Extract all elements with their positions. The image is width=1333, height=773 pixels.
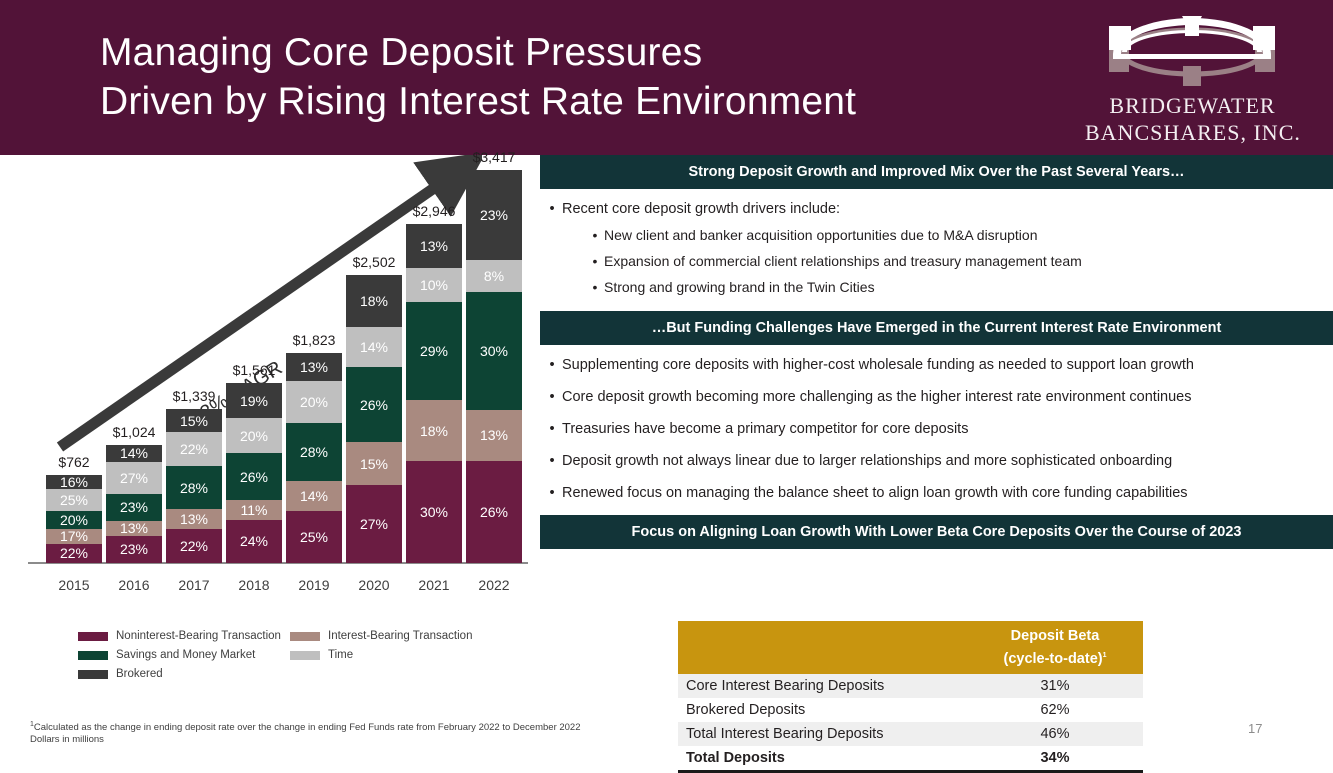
- bar-segment-2016-noninterest-bearing-transaction: 23%: [106, 536, 162, 563]
- legend-row: Brokered: [78, 668, 538, 680]
- segment-value-label: 14%: [300, 488, 328, 504]
- bar-segment-2020-noninterest-bearing-transaction: 27%: [346, 485, 402, 563]
- segment-value-label: 20%: [300, 394, 328, 410]
- bullet: • Treasuries have become a primary compe…: [542, 419, 1331, 439]
- bar-segment-2022-time: 8%: [466, 260, 522, 291]
- bar-2019: 13%20%28%14%25%: [286, 353, 342, 563]
- bar-segment-2021-noninterest-bearing-transaction: 30%: [406, 461, 462, 563]
- legend-item-savings-and-money-market: Savings and Money Market: [78, 649, 290, 661]
- bullet-dot-icon: •: [542, 355, 562, 375]
- bar-segment-2015-savings-and-money-market: 20%: [46, 511, 102, 529]
- table-row-total: Total Deposits 34%: [678, 746, 1143, 772]
- bullet-text: New client and banker acquisition opport…: [604, 225, 1037, 245]
- bar-segment-2019-savings-and-money-market: 28%: [286, 423, 342, 482]
- x-axis-label-2019: 2019: [286, 577, 342, 593]
- segment-value-label: 10%: [420, 277, 448, 293]
- row-value: 62%: [967, 698, 1143, 722]
- bar-segment-2017-savings-and-money-market: 28%: [166, 466, 222, 509]
- bar-total-label-2019: $1,823: [269, 332, 359, 348]
- bar-segment-2019-interest-bearing-transaction: 14%: [286, 481, 342, 510]
- sub-bullet: • Strong and growing brand in the Twin C…: [586, 277, 1331, 297]
- bullet-text: Core deposit growth becoming more challe…: [562, 387, 1192, 407]
- bar-total-label-2022: $3,417: [449, 149, 539, 165]
- bar-segment-2021-time: 10%: [406, 268, 462, 302]
- segment-value-label: 16%: [60, 474, 88, 490]
- segment-value-label: 13%: [300, 359, 328, 375]
- bar-2015: 16%25%20%17%22%: [46, 475, 102, 563]
- section-header-focus-on-aligning: Focus on Aligning Loan Growth With Lower…: [540, 515, 1333, 549]
- bar-segment-2015-brokered: 16%: [46, 475, 102, 489]
- row-value: 46%: [967, 722, 1143, 746]
- segment-value-label: 28%: [300, 444, 328, 460]
- bar-segment-2018-savings-and-money-market: 26%: [226, 453, 282, 500]
- right-content-panel: Strong Deposit Growth and Improved Mix O…: [540, 155, 1333, 700]
- bullet-dot-icon: •: [542, 199, 562, 219]
- bullet-dot-icon: •: [542, 387, 562, 407]
- bar-segment-2020-interest-bearing-transaction: 15%: [346, 442, 402, 485]
- bar-segment-2022-savings-and-money-market: 30%: [466, 292, 522, 410]
- segment-value-label: 26%: [480, 504, 508, 520]
- header-line-1: Deposit Beta: [1011, 628, 1100, 644]
- segment-value-label: 24%: [240, 533, 268, 549]
- bar-segment-2019-time: 20%: [286, 381, 342, 423]
- legend-label: Brokered: [116, 668, 163, 680]
- row-value: 31%: [967, 674, 1143, 698]
- legend-item-brokered: Brokered: [78, 668, 290, 680]
- footnote-line-2: Dollars in millions: [30, 734, 104, 745]
- header-line-2: (cycle-to-date): [1003, 651, 1102, 667]
- x-axis-label-2021: 2021: [406, 577, 462, 593]
- segment-value-label: 13%: [420, 238, 448, 254]
- bar-segment-2019-noninterest-bearing-transaction: 25%: [286, 511, 342, 563]
- sub-bullet: • New client and banker acquisition oppo…: [586, 225, 1331, 245]
- section-header-funding-challenges: …But Funding Challenges Have Emerged in …: [540, 311, 1333, 345]
- bar-segment-2021-savings-and-money-market: 29%: [406, 302, 462, 400]
- bullet-lead: • Recent core deposit growth drivers inc…: [542, 199, 1331, 219]
- bullet: • Supplementing core deposits with highe…: [542, 355, 1331, 375]
- segment-value-label: 27%: [360, 516, 388, 532]
- row-value: 34%: [967, 746, 1143, 772]
- section-header-strong-deposit-growth: Strong Deposit Growth and Improved Mix O…: [540, 155, 1333, 189]
- bullet: • Deposit growth not always linear due t…: [542, 451, 1331, 471]
- bar-total-label-2016: $1,024: [89, 424, 179, 440]
- bar-total-label-2020: $2,502: [329, 254, 419, 270]
- bar-segment-2016-savings-and-money-market: 23%: [106, 494, 162, 521]
- bar-total-label-2015: $762: [29, 454, 119, 470]
- bullet-text: Expansion of commercial client relations…: [604, 251, 1082, 271]
- logo-wordmark: BRIDGEWATER BANCSHARES, INC.: [1085, 92, 1300, 146]
- legend-item-time: Time: [290, 649, 353, 661]
- legend-label: Time: [328, 649, 353, 661]
- bullet-dot-icon: •: [586, 225, 604, 245]
- table-header-row: Deposit Beta (cycle-to-date)1: [678, 621, 1143, 674]
- page-title: Managing Core Deposit Pressures Driven b…: [100, 28, 856, 126]
- table-header-deposit-beta: Deposit Beta (cycle-to-date)1: [967, 621, 1143, 674]
- segment-value-label: 11%: [241, 502, 268, 518]
- panel1-bullets: • Recent core deposit growth drivers inc…: [540, 189, 1333, 297]
- company-logo: BRIDGEWATER BANCSHARES, INC.: [1085, 14, 1300, 144]
- x-axis-label-2020: 2020: [346, 577, 402, 593]
- x-axis-label-2017: 2017: [166, 577, 222, 593]
- bullet-dot-icon: •: [542, 451, 562, 471]
- x-axis-label-2018: 2018: [226, 577, 282, 593]
- bar-segment-2017-noninterest-bearing-transaction: 22%: [166, 529, 222, 563]
- bar-2022: 23%8%30%13%26%: [466, 170, 522, 563]
- bullet-dot-icon: •: [542, 483, 562, 503]
- logo-line-1: BRIDGEWATER: [1085, 92, 1300, 119]
- panel2-bullets: • Supplementing core deposits with highe…: [540, 345, 1333, 503]
- chart-legend: Noninterest-Bearing Transaction Interest…: [78, 630, 538, 687]
- header-footnote-marker: 1: [1103, 652, 1107, 659]
- legend-label: Savings and Money Market: [116, 649, 255, 661]
- segment-value-label: 26%: [240, 469, 268, 485]
- bullet-text: Treasuries have become a primary competi…: [562, 419, 968, 439]
- bar-segment-2020-brokered: 18%: [346, 275, 402, 327]
- bullet-text: Recent core deposit growth drivers inclu…: [562, 199, 840, 219]
- table-header-blank: [678, 621, 967, 674]
- segment-value-label: 19%: [240, 393, 268, 409]
- segment-value-label: 30%: [420, 504, 448, 520]
- legend-swatch-icon: [290, 632, 320, 641]
- bar-segment-2015-interest-bearing-transaction: 17%: [46, 529, 102, 544]
- bar-total-label-2018: $1,561: [209, 362, 299, 378]
- bullet-dot-icon: •: [542, 419, 562, 439]
- row-label: Total Deposits: [678, 746, 967, 772]
- bullet-dot-icon: •: [586, 277, 604, 297]
- bullet-text: Renewed focus on managing the balance sh…: [562, 483, 1188, 503]
- legend-label: Noninterest-Bearing Transaction: [116, 630, 281, 642]
- segment-value-label: 15%: [180, 413, 208, 429]
- segment-value-label: 8%: [484, 268, 504, 284]
- bar-segment-2022-noninterest-bearing-transaction: 26%: [466, 461, 522, 563]
- legend-swatch-icon: [290, 651, 320, 660]
- x-axis-label-2022: 2022: [466, 577, 522, 593]
- legend-row: Noninterest-Bearing Transaction Interest…: [78, 630, 538, 642]
- bar-segment-2017-interest-bearing-transaction: 13%: [166, 509, 222, 529]
- segment-value-label: 18%: [420, 423, 448, 439]
- bar-segment-2016-interest-bearing-transaction: 13%: [106, 521, 162, 536]
- segment-value-label: 23%: [120, 541, 148, 557]
- segment-value-label: 17%: [60, 528, 88, 544]
- bullet-text: Deposit growth not always linear due to …: [562, 451, 1172, 471]
- legend-row: Savings and Money Market Time: [78, 649, 538, 661]
- sub-bullet: • Expansion of commercial client relatio…: [586, 251, 1331, 271]
- bullet-text: Supplementing core deposits with higher-…: [562, 355, 1194, 375]
- legend-swatch-icon: [78, 632, 108, 641]
- segment-value-label: 13%: [120, 520, 148, 536]
- bar-segment-2015-noninterest-bearing-transaction: 22%: [46, 544, 102, 563]
- segment-value-label: 22%: [180, 538, 208, 554]
- bar-2021: 13%10%29%18%30%: [406, 224, 462, 563]
- segment-value-label: 25%: [300, 529, 328, 545]
- bridge-arch-icon: [1103, 14, 1281, 92]
- legend-label: Interest-Bearing Transaction: [328, 630, 472, 642]
- bar-segment-2022-interest-bearing-transaction: 13%: [466, 410, 522, 461]
- bar-segment-2021-interest-bearing-transaction: 18%: [406, 400, 462, 461]
- segment-value-label: 28%: [180, 480, 208, 496]
- deposit-beta-table: Deposit Beta (cycle-to-date)1 Core Inter…: [678, 621, 1143, 773]
- segment-value-label: 20%: [240, 428, 268, 444]
- deposit-beta-table-wrapper: Deposit Beta (cycle-to-date)1 Core Inter…: [540, 549, 1333, 689]
- segment-value-label: 14%: [360, 339, 388, 355]
- bar-segment-2015-time: 25%: [46, 489, 102, 511]
- segment-value-label: 22%: [180, 441, 208, 457]
- page-number: 17: [1248, 721, 1262, 736]
- segment-value-label: 14%: [120, 445, 148, 461]
- legend-swatch-icon: [78, 670, 108, 679]
- segment-value-label: 15%: [360, 456, 388, 472]
- bar-2018: 19%20%26%11%24%: [226, 383, 282, 563]
- row-label: Core Interest Bearing Deposits: [678, 674, 967, 698]
- segment-value-label: 27%: [120, 470, 148, 486]
- bar-segment-2020-savings-and-money-market: 26%: [346, 367, 402, 442]
- legend-swatch-icon: [78, 651, 108, 660]
- deposit-mix-stacked-bar-chart: 24.3% CAGR 16%25%20%17%22%14%27%23%13%23…: [0, 155, 540, 625]
- segment-value-label: 30%: [480, 343, 508, 359]
- segment-value-label: 25%: [60, 492, 88, 508]
- segment-value-label: 23%: [120, 499, 148, 515]
- logo-line-2: BANCSHARES, INC.: [1085, 119, 1300, 146]
- legend-item-interest-bearing-transaction: Interest-Bearing Transaction: [290, 630, 472, 642]
- bar-total-label-2017: $1,339: [149, 388, 239, 404]
- bar-segment-2018-interest-bearing-transaction: 11%: [226, 500, 282, 520]
- bar-segment-2018-time: 20%: [226, 418, 282, 454]
- bar-total-label-2021: $2,946: [389, 203, 479, 219]
- x-axis-label-2016: 2016: [106, 577, 162, 593]
- segment-value-label: 13%: [180, 511, 208, 527]
- segment-value-label: 18%: [360, 293, 388, 309]
- segment-value-label: 20%: [60, 512, 88, 528]
- segment-value-label: 13%: [480, 427, 508, 443]
- segment-value-label: 29%: [420, 343, 448, 359]
- slide-footnote: 1Calculated as the change in ending depo…: [30, 719, 790, 746]
- segment-value-label: 26%: [360, 397, 388, 413]
- bar-2020: 18%14%26%15%27%: [346, 275, 402, 563]
- bullet: • Core deposit growth becoming more chal…: [542, 387, 1331, 407]
- segment-value-label: 23%: [480, 207, 508, 223]
- bullet-text: Strong and growing brand in the Twin Cit…: [604, 277, 875, 297]
- segment-value-label: 22%: [60, 545, 88, 561]
- slide-header-banner: Managing Core Deposit Pressures Driven b…: [0, 0, 1333, 155]
- legend-item-noninterest-bearing-transaction: Noninterest-Bearing Transaction: [78, 630, 290, 642]
- bullet-dot-icon: •: [586, 251, 604, 271]
- bullet: • Renewed focus on managing the balance …: [542, 483, 1331, 503]
- x-axis-label-2015: 2015: [46, 577, 102, 593]
- bar-segment-2018-noninterest-bearing-transaction: 24%: [226, 520, 282, 563]
- table-row: Core Interest Bearing Deposits 31%: [678, 674, 1143, 698]
- footnote-line-1: Calculated as the change in ending depos…: [34, 722, 581, 733]
